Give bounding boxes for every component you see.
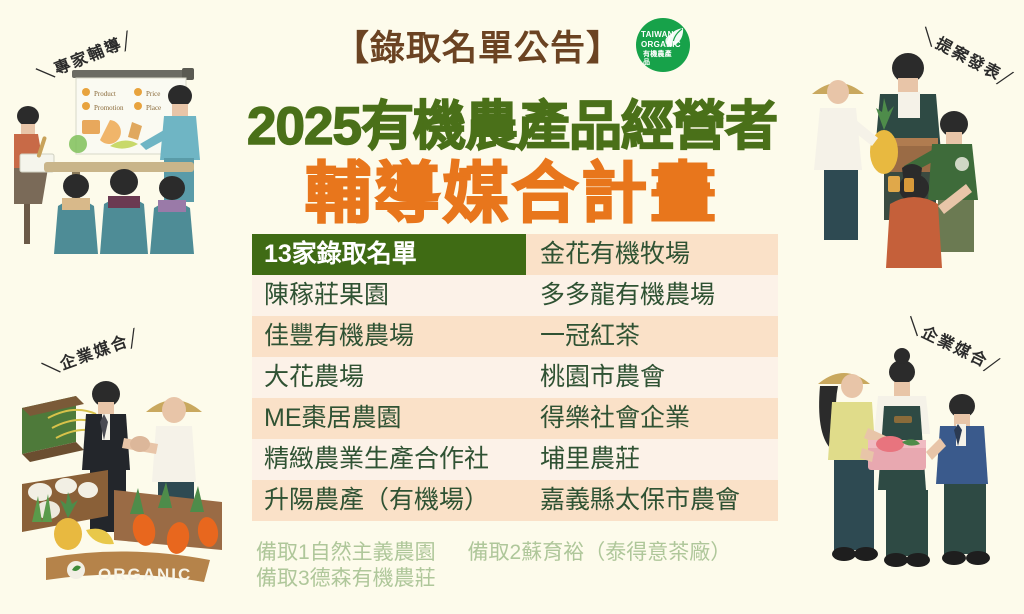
table-cell: 大花農場	[252, 357, 526, 398]
table-cell: 一冠紅茶	[526, 316, 778, 357]
table-cell: 得樂社會企業	[526, 398, 778, 439]
logo-text-taiwan-organic: TAIWANORGANIC	[641, 30, 671, 49]
table-row: 佳豐有機農場 一冠紅茶	[252, 316, 778, 357]
table-cell: 金花有機牧場	[526, 234, 778, 275]
table-cell: 佳豐有機農場	[252, 316, 526, 357]
handshake-organic-market-illustration: ORGANIC	[18, 372, 238, 590]
svg-text:ORGANIC: ORGANIC	[98, 565, 192, 584]
table-cell: 嘉義縣太保市農會	[526, 480, 778, 521]
waitlist-note-2: 備取2蘇育裕（泰得意茶廠）	[468, 541, 732, 564]
table-row: 精緻農業生產合作社 埔里農莊	[252, 439, 778, 480]
logo-text-chinese: 有機農產品	[643, 51, 673, 67]
table-cell: 桃園市農會	[526, 357, 778, 398]
waitlist-note-line-1: 備取1自然主義農園 備取2蘇育裕（泰得意茶廠）	[256, 540, 796, 566]
announcement-title: 【錄取名單公告】	[334, 20, 622, 71]
table-row: ME棗居農園 得樂社會企業	[252, 398, 778, 439]
taiwan-organic-logo-icon: TAIWANORGANIC 有機農產品	[636, 18, 690, 72]
table-row: 陳稼莊果園 多多龍有機農場	[252, 275, 778, 316]
title-line-2: 輔導媒合計畫	[0, 140, 1024, 236]
waitlist-note-1: 備取1自然主義農園	[256, 541, 436, 564]
produce-box-exchange-illustration	[806, 344, 1018, 584]
waitlist-note-3: 備取3德森有機農莊	[256, 566, 796, 592]
table-cell: 精緻農業生產合作社	[252, 439, 526, 480]
table-header-cell: 13家錄取名單	[252, 234, 526, 275]
header: 【錄取名單公告】 TAIWANORGANIC 有機農產品	[0, 18, 1024, 72]
table-cell: 升陽農產（有機場）	[252, 480, 526, 521]
table-cell: 埔里農莊	[526, 439, 778, 480]
accepted-list-table: 13家錄取名單 金花有機牧場 陳稼莊果園 多多龍有機農場 佳豐有機農場 一冠紅茶…	[252, 234, 778, 521]
table-cell: ME棗居農園	[252, 398, 526, 439]
table-cell: 陳稼莊果園	[252, 275, 526, 316]
table-row: 13家錄取名單 金花有機牧場	[252, 234, 778, 275]
waitlist-notes: 備取1自然主義農園 備取2蘇育裕（泰得意茶廠） 備取3德森有機農莊	[256, 540, 796, 592]
table-cell: 多多龍有機農場	[526, 275, 778, 316]
table-row: 大花農場 桃園市農會	[252, 357, 778, 398]
poster-canvas: Product Price Promotion Place	[0, 0, 1024, 614]
table-row: 升陽農產（有機場） 嘉義縣太保市農會	[252, 480, 778, 521]
